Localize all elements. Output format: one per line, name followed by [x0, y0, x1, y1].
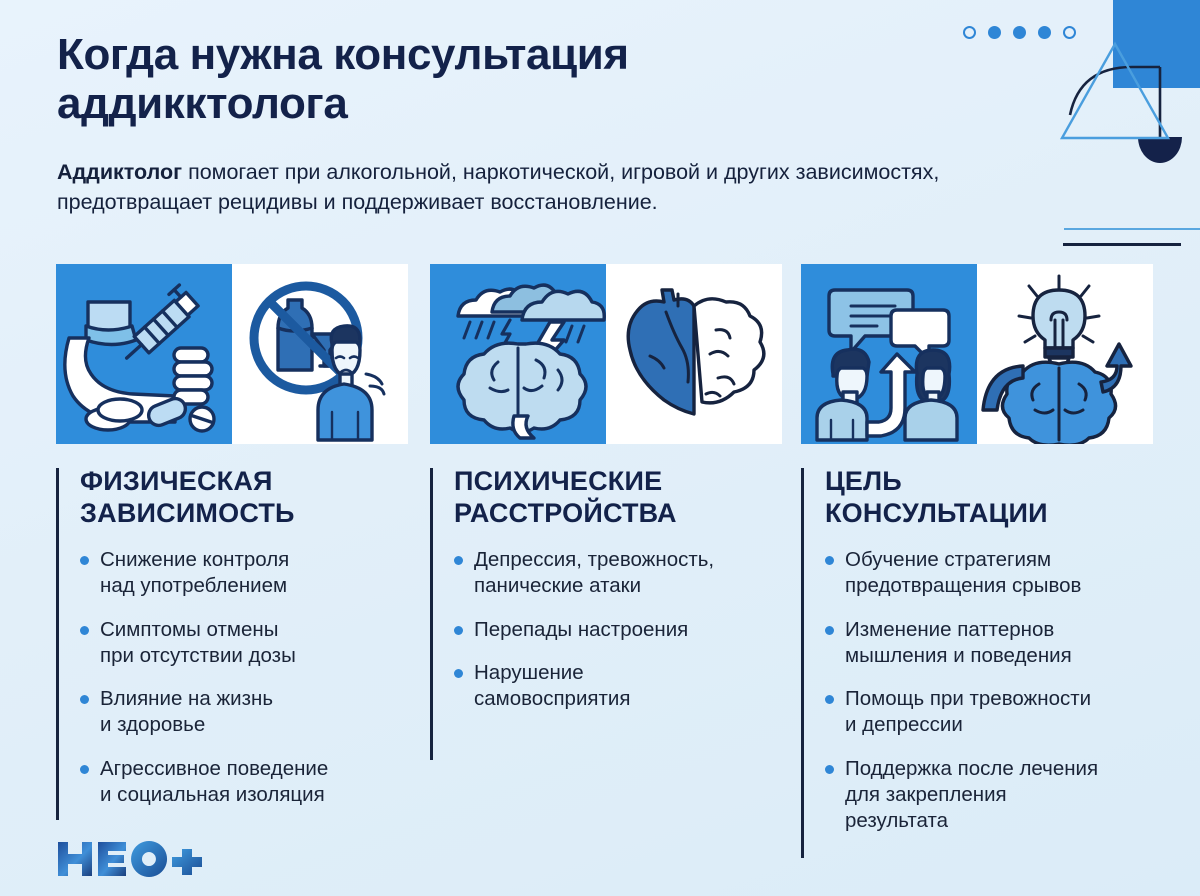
list-item: Нарушение самовосприятия	[454, 660, 785, 712]
storm-cloud-brain-icon	[430, 264, 606, 444]
bullet-list: Депрессия, тревожность, панические атаки…	[454, 547, 785, 712]
illustration-tiles	[0, 264, 1200, 444]
list-item: Поддержка после лечения для закрепления …	[825, 756, 1171, 835]
column-rule	[430, 468, 433, 760]
column-title: ЦЕЛЬ КОНСУЛЬТАЦИИ	[825, 466, 1171, 529]
bullet-list: Снижение контроля над употреблением Симп…	[80, 547, 411, 808]
header: Когда нужна консультация аддикктолога Ад…	[57, 30, 1117, 218]
list-item: Симптомы отмены при отсутствии дозы	[80, 617, 411, 669]
light-rule-decor	[1064, 228, 1200, 230]
list-item: Влияние на жизнь и здоровье	[80, 686, 411, 738]
column-physical-dependence: ФИЗИЧЕСКАЯ ЗАВИСИМОСТЬ Снижение контроля…	[56, 466, 411, 825]
list-item: Обучение стратегиям предотвращения срыво…	[825, 547, 1171, 599]
list-item: Снижение контроля над употреблением	[80, 547, 411, 599]
list-item: Изменение паттернов мышления и поведения	[825, 617, 1171, 669]
page-title: Когда нужна консультация аддикктолога	[57, 30, 847, 129]
neo-plus-logo	[56, 838, 206, 878]
tile-people-dialogue	[801, 264, 977, 444]
tile-group-mental	[430, 264, 782, 444]
column-rule	[801, 468, 804, 858]
tile-no-alcohol-person	[232, 264, 408, 444]
bullet-list: Обучение стратегиям предотвращения срыво…	[825, 547, 1171, 834]
column-mental-disorders: ПСИХИЧЕСКИЕ РАССТРОЙСТВА Депрессия, трев…	[430, 466, 785, 729]
tile-storm-brain	[430, 264, 606, 444]
tile-brain-lightbulb	[977, 264, 1153, 444]
subtitle-lead: Аддиктолог	[57, 160, 182, 184]
page-subtitle: Аддиктолог помогает при алкогольной, нар…	[57, 157, 1087, 218]
arm-syringe-pills-icon	[56, 264, 232, 444]
dark-rule-decor	[1063, 243, 1181, 246]
two-people-speech-bubbles-arrow-icon	[801, 264, 977, 444]
list-item: Депрессия, тревожность, панические атаки	[454, 547, 785, 599]
column-consultation-goal: ЦЕЛЬ КОНСУЛЬТАЦИИ Обучение стратегиям пр…	[801, 466, 1171, 851]
tile-arm-syringe-pills	[56, 264, 232, 444]
list-item: Агрессивное поведение и социальная изоля…	[80, 756, 411, 808]
list-item: Перепады настроения	[454, 617, 785, 643]
tile-heart-brain	[606, 264, 782, 444]
list-item: Помощь при тревожности и депрессии	[825, 686, 1171, 738]
column-title: ФИЗИЧЕСКАЯ ЗАВИСИМОСТЬ	[80, 466, 411, 529]
heart-brain-split-icon	[606, 264, 782, 444]
brain-lightbulb-arrows-icon	[977, 264, 1153, 444]
no-alcohol-sad-person-icon	[232, 264, 408, 444]
tile-group-goal	[801, 264, 1153, 444]
tile-group-physical	[56, 264, 408, 444]
subtitle-rest: помогает при алкогольной, наркотической,…	[57, 160, 939, 215]
column-title: ПСИХИЧЕСКИЕ РАССТРОЙСТВА	[454, 466, 785, 529]
neo-plus-logo-icon	[56, 838, 206, 880]
column-rule	[56, 468, 59, 820]
